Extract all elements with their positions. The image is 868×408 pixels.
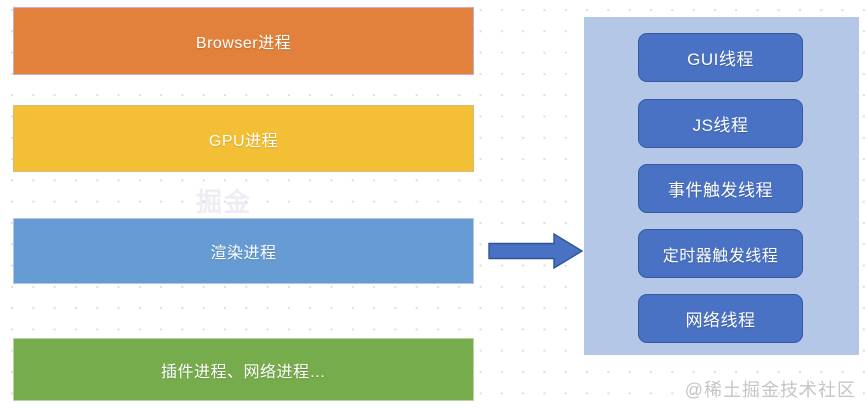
process-label: 插件进程、网络进程… (161, 358, 326, 382)
thread-box-network[interactable]: 网络线程 (638, 294, 803, 343)
process-label: 渲染进程 (210, 239, 276, 263)
process-box-gpu[interactable]: GPU进程 (13, 105, 474, 172)
process-label: Browser进程 (196, 29, 291, 53)
thread-label: 网络线程 (686, 306, 756, 331)
thread-box-gui[interactable]: GUI线程 (638, 33, 803, 82)
right-arrow-icon (488, 232, 584, 270)
process-box-renderer[interactable]: 渲染进程 (13, 218, 474, 284)
process-label: GPU进程 (209, 127, 278, 151)
thread-label: JS线程 (693, 111, 749, 136)
diagram-canvas: Browser进程 GPU进程 渲染进程 插件进程、网络进程… GUI线程 JS… (0, 0, 868, 408)
connector-arrow (488, 232, 584, 270)
thread-box-js[interactable]: JS线程 (638, 99, 803, 148)
thread-label: 定时器触发线程 (663, 242, 779, 266)
thread-label: 事件触发线程 (668, 176, 773, 201)
process-box-browser[interactable]: Browser进程 (13, 7, 474, 75)
thread-box-event-trigger[interactable]: 事件触发线程 (638, 164, 803, 213)
thread-label: GUI线程 (687, 45, 754, 70)
center-watermark: 掘金 (196, 182, 252, 219)
corner-watermark: @稀土掘金技术社区 (685, 376, 856, 402)
process-box-plugin-network[interactable]: 插件进程、网络进程… (13, 338, 474, 401)
thread-panel: GUI线程 JS线程 事件触发线程 定时器触发线程 网络线程 (584, 17, 859, 355)
thread-box-timer-trigger[interactable]: 定时器触发线程 (638, 229, 803, 278)
